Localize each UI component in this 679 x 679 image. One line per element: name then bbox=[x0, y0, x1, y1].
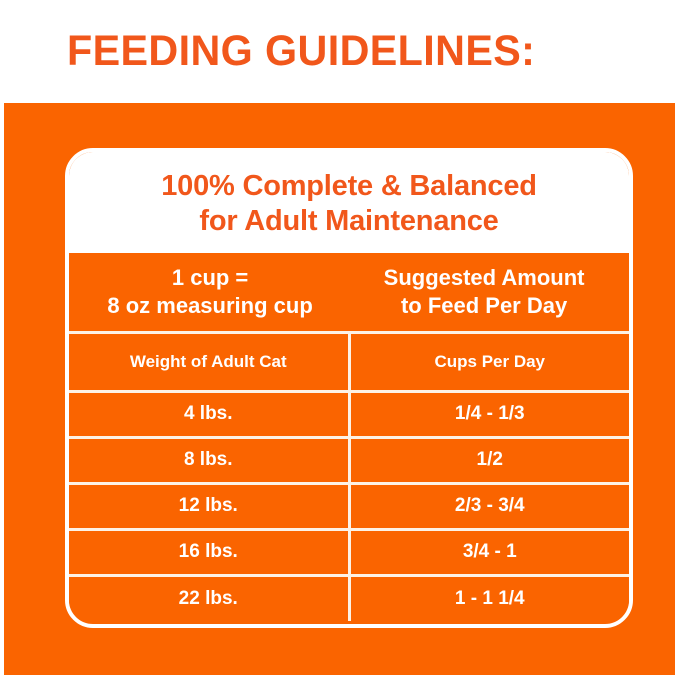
cup-note-line-1: 1 cup = bbox=[172, 264, 248, 292]
cup-header-cell: 1 cup = 8 oz measuring cup Suggested Amo… bbox=[69, 253, 629, 332]
page-title: FEEDING GUIDELINES: bbox=[67, 30, 535, 73]
table-row: 16 lbs. 3/4 - 1 bbox=[69, 529, 629, 575]
cell-cups: 3/4 - 1 bbox=[349, 529, 629, 575]
table-row-cup-header: 1 cup = 8 oz measuring cup Suggested Amo… bbox=[69, 253, 629, 332]
suggested-line-1: Suggested Amount bbox=[384, 264, 585, 292]
page-banner: FEEDING GUIDELINES: bbox=[0, 0, 679, 103]
table-header-row: Weight of Adult Cat Cups Per Day bbox=[69, 332, 629, 391]
suggested-line-2: to Feed Per Day bbox=[401, 292, 567, 320]
table-row: 12 lbs. 2/3 - 3/4 bbox=[69, 483, 629, 529]
cell-cups: 1 - 1 1/4 bbox=[349, 575, 629, 621]
feeding-guidelines-page: FEEDING GUIDELINES: 100% Complete & Bala… bbox=[0, 0, 679, 679]
cup-header-columns: 1 cup = 8 oz measuring cup Suggested Amo… bbox=[75, 264, 623, 319]
cell-weight: 16 lbs. bbox=[69, 529, 349, 575]
column-header-cups: Cups Per Day bbox=[349, 332, 629, 391]
column-header-weight: Weight of Adult Cat bbox=[69, 332, 349, 391]
table-row: 4 lbs. 1/4 - 1/3 bbox=[69, 391, 629, 437]
cell-cups: 2/3 - 3/4 bbox=[349, 483, 629, 529]
feeding-table: 1 cup = 8 oz measuring cup Suggested Amo… bbox=[69, 253, 629, 621]
cell-weight: 12 lbs. bbox=[69, 483, 349, 529]
orange-panel: 100% Complete & Balanced for Adult Maint… bbox=[4, 103, 675, 675]
table-row: 8 lbs. 1/2 bbox=[69, 437, 629, 483]
table-row: 22 lbs. 1 - 1 1/4 bbox=[69, 575, 629, 621]
cell-weight: 4 lbs. bbox=[69, 391, 349, 437]
cup-note-line-2: 8 oz measuring cup bbox=[107, 292, 312, 320]
card-heading-line-1: 100% Complete & Balanced bbox=[161, 169, 537, 203]
card-heading: 100% Complete & Balanced for Adult Maint… bbox=[69, 152, 629, 253]
cell-cups: 1/2 bbox=[349, 437, 629, 483]
cell-weight: 8 lbs. bbox=[69, 437, 349, 483]
cell-cups: 1/4 - 1/3 bbox=[349, 391, 629, 437]
feeding-guidelines-card: 100% Complete & Balanced for Adult Maint… bbox=[65, 148, 633, 628]
suggested-amount-group: Suggested Amount to Feed Per Day bbox=[345, 264, 623, 319]
cell-weight: 22 lbs. bbox=[69, 575, 349, 621]
card-heading-line-2: for Adult Maintenance bbox=[199, 204, 498, 238]
cup-note-group: 1 cup = 8 oz measuring cup bbox=[75, 264, 345, 319]
